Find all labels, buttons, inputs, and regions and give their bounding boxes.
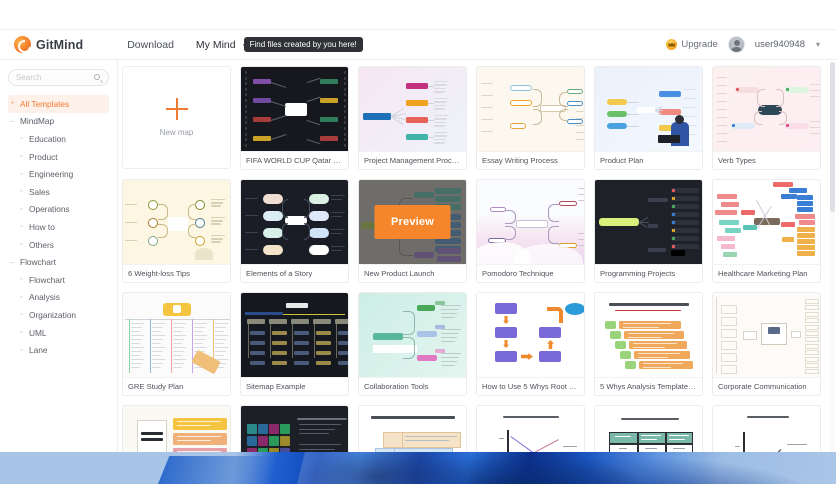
sidebar-item-product[interactable]: ▫Product	[8, 148, 109, 166]
template-thumbnail	[595, 67, 702, 151]
chevron-down-icon[interactable]: ▾	[816, 40, 820, 49]
template-thumbnail-art	[595, 406, 702, 452]
template-card-title: Project Management Process	[359, 151, 466, 169]
nav-item-download[interactable]: Download	[127, 39, 174, 51]
template-thumbnail	[713, 406, 820, 452]
sidebar-item-sales[interactable]: ▫Sales	[8, 183, 109, 201]
template-thumbnail	[713, 67, 820, 151]
header-right: Upgrade user940948 ▾	[666, 36, 824, 53]
template-thumbnail-art	[359, 406, 466, 452]
sidebar-item-flowchart[interactable]: –Flowchart	[8, 253, 109, 271]
template-card-title: Essay Writing Process	[477, 151, 584, 169]
expand-icon: –	[10, 259, 15, 266]
sidebar-item-uml[interactable]: ▫UML	[8, 324, 109, 342]
template-thumbnail	[595, 406, 702, 452]
template-thumbnail-art	[477, 67, 584, 151]
template-thumbnail	[595, 293, 702, 377]
template-card[interactable]: 5 Whys Analysis Template - J & J S...	[594, 292, 703, 396]
template-card[interactable]	[358, 405, 467, 452]
template-thumbnail-art	[359, 293, 466, 377]
sidebar-item-analysis[interactable]: ▫Analysis	[8, 289, 109, 307]
template-thumbnail-art	[595, 180, 702, 264]
template-card-title: How to Use 5 Whys Root Cause A...	[477, 377, 584, 395]
template-thumbnail-art	[123, 180, 230, 264]
bullet-icon: ▫	[19, 311, 24, 318]
template-thumbnail-art	[595, 67, 702, 151]
sidebar-item-flowchart[interactable]: ▫Flowchart	[8, 271, 109, 289]
preview-button[interactable]: Preview	[374, 205, 451, 239]
main-nav: Download My Mind Find files created by y…	[127, 37, 363, 52]
template-card[interactable]: Pomodoro Technique	[476, 179, 585, 283]
new-map-label: New map	[160, 128, 194, 137]
template-thumbnail	[477, 293, 584, 377]
template-thumbnail-art	[123, 406, 230, 452]
template-card[interactable]	[594, 405, 703, 452]
template-card[interactable]	[476, 405, 585, 452]
bullet-icon: ▫	[19, 294, 24, 301]
sidebar-item-label: UML	[29, 328, 47, 338]
sidebar-item-others[interactable]: ▫Others	[8, 236, 109, 254]
template-card[interactable]: How to Use 5 Whys Root Cause A...	[476, 292, 585, 396]
template-card[interactable]	[712, 405, 821, 452]
brand-logo[interactable]: GitMind	[14, 36, 83, 53]
site-header: GitMind Download My Mind Find files crea…	[0, 30, 836, 60]
template-thumbnail-art	[241, 67, 348, 151]
template-card-title: New Product Launch	[359, 264, 466, 282]
template-card-title: Pomodoro Technique	[477, 264, 584, 282]
template-thumbnail-art	[477, 406, 584, 452]
template-card-title: Sitemap Example	[241, 377, 348, 395]
template-card[interactable]: Sitemap Example	[240, 292, 349, 396]
template-thumbnail-art	[241, 293, 348, 377]
template-card-title: Collaboration Tools	[359, 377, 466, 395]
template-card[interactable]: GRE Study Plan	[122, 292, 231, 396]
user-name[interactable]: user940948	[755, 39, 805, 50]
template-thumbnail-art	[123, 293, 230, 377]
sidebar-item-label: How to	[29, 222, 55, 232]
template-card[interactable]: Project Management Process	[358, 66, 467, 170]
sidebar-item-label: Engineering	[29, 169, 73, 179]
template-card[interactable]: Healthcare Marketing Plan	[712, 179, 821, 283]
template-thumbnail	[241, 406, 348, 452]
template-thumbnail	[359, 67, 466, 151]
template-card[interactable]: Essay Writing Process	[476, 66, 585, 170]
template-thumbnail	[241, 180, 348, 264]
template-gallery: New map FIFA WORLD CUP Qatar 2022Project…	[118, 60, 836, 452]
bullet-icon: ▫	[19, 329, 24, 336]
sidebar-item-all-templates[interactable]: +All Templates	[8, 95, 109, 113]
template-thumbnail-art	[595, 293, 702, 377]
sidebar-item-mindmap[interactable]: –MindMap	[8, 113, 109, 131]
bullet-icon: ▫	[19, 171, 24, 178]
template-card-title: 5 Whys Analysis Template - J & J S...	[595, 377, 702, 395]
template-thumbnail-art	[241, 406, 348, 452]
template-grid: New map FIFA WORLD CUP Qatar 2022Project…	[122, 66, 824, 452]
template-thumbnail-art	[477, 293, 584, 377]
sidebar-item-label: Operations	[29, 204, 70, 214]
avatar[interactable]	[728, 36, 745, 53]
template-card[interactable]: Programming Projects	[594, 179, 703, 283]
sidebar-item-organization[interactable]: ▫Organization	[8, 306, 109, 324]
template-thumbnail	[477, 406, 584, 452]
template-card-title: Product Plan	[595, 151, 702, 169]
sidebar-item-education[interactable]: ▫Education	[8, 130, 109, 148]
new-map-button[interactable]: New map	[122, 66, 231, 169]
bullet-icon: ▫	[19, 276, 24, 283]
expand-icon: –	[10, 118, 15, 125]
sidebar-item-label: All Templates	[20, 99, 69, 109]
tooltip-my-mind: Find files created by you here!	[244, 37, 363, 52]
sidebar-item-operations[interactable]: ▫Operations	[8, 201, 109, 219]
template-thumbnail-art	[359, 67, 466, 151]
template-thumbnail-art	[713, 293, 820, 377]
template-card-title: Programming Projects	[595, 264, 702, 282]
template-card-title: Corporate Communication	[713, 377, 820, 395]
template-card-title: Elements of a Story	[241, 264, 348, 282]
template-card[interactable]	[240, 405, 349, 452]
sidebar-item-label: Lane	[29, 345, 47, 355]
gitmind-logo-icon	[14, 36, 31, 53]
search-input[interactable]	[16, 73, 101, 82]
template-card[interactable]: 6 Weight-loss Tips	[122, 179, 231, 283]
sidebar-list: +All Templates–MindMap▫Education▫Product…	[8, 95, 109, 359]
template-thumbnail-art	[477, 180, 584, 264]
plus-icon	[166, 98, 188, 120]
template-thumbnail: Preview	[359, 180, 466, 264]
template-thumbnail-art	[241, 180, 348, 264]
template-card-title: FIFA WORLD CUP Qatar 2022	[241, 151, 348, 169]
template-card-title: GRE Study Plan	[123, 377, 230, 395]
template-thumbnail	[123, 406, 230, 452]
template-thumbnail	[713, 180, 820, 264]
template-card[interactable]: FIFA WORLD CUP Qatar 2022	[240, 66, 349, 170]
template-card-title: 6 Weight-loss Tips	[123, 264, 230, 282]
template-thumbnail	[123, 180, 230, 264]
content-scrollbar[interactable]	[830, 62, 835, 452]
sidebar-item-lane[interactable]: ▫Lane	[8, 341, 109, 359]
bullet-icon: ▫	[19, 206, 24, 213]
template-thumbnail	[477, 67, 584, 151]
template-thumbnail	[713, 293, 820, 377]
bullet-icon: ▫	[19, 347, 24, 354]
browser-chrome-strip	[0, 0, 836, 30]
windows-desktop-wallpaper	[0, 452, 836, 484]
page-body: +All Templates–MindMap▫Education▫Product…	[0, 60, 836, 452]
upgrade-label: Upgrade	[681, 39, 717, 50]
template-thumbnail	[359, 406, 466, 452]
sidebar-item-label: Organization	[29, 310, 76, 320]
bullet-icon: ▫	[19, 153, 24, 160]
brand-name: GitMind	[36, 38, 83, 52]
template-thumbnail	[359, 293, 466, 377]
template-card[interactable]: PreviewNew Product Launch	[358, 179, 467, 283]
template-card-title: Verb Types	[713, 151, 820, 169]
sidebar-item-label: Flowchart	[20, 257, 56, 267]
bullet-icon: ▫	[19, 223, 24, 230]
scrollbar-thumb[interactable]	[830, 62, 835, 212]
sidebar: +All Templates–MindMap▫Education▫Product…	[0, 60, 118, 452]
crown-icon	[666, 39, 677, 50]
sidebar-item-engineering[interactable]: ▫Engineering	[8, 165, 109, 183]
nav-item-my-mind[interactable]: My Mind	[196, 39, 236, 51]
template-thumbnail-art	[713, 67, 820, 151]
bullet-icon: ▫	[19, 135, 24, 142]
browser-page: GitMind Download My Mind Find files crea…	[0, 0, 836, 452]
sidebar-item-label: Flowchart	[29, 275, 65, 285]
template-card[interactable]	[122, 405, 231, 452]
sidebar-item-label: Education	[29, 134, 66, 144]
template-thumbnail	[241, 67, 348, 151]
template-card[interactable]: Verb Types	[712, 66, 821, 170]
bullet-icon: ▫	[19, 241, 24, 248]
search-icon	[94, 74, 102, 82]
template-thumbnail	[477, 180, 584, 264]
template-card[interactable]: Elements of a Story	[240, 179, 349, 283]
sidebar-item-how-to[interactable]: ▫How to	[8, 218, 109, 236]
sidebar-item-label: Sales	[29, 187, 50, 197]
template-thumbnail-art	[713, 406, 820, 452]
upgrade-button[interactable]: Upgrade	[666, 39, 717, 50]
bullet-icon: ▫	[19, 188, 24, 195]
sidebar-item-label: MindMap	[20, 116, 54, 126]
template-card[interactable]: Product Plan	[594, 66, 703, 170]
screen: GitMind Download My Mind Find files crea…	[0, 0, 836, 484]
template-card[interactable]: Collaboration Tools	[358, 292, 467, 396]
template-thumbnail-art	[713, 180, 820, 264]
sidebar-item-label: Product	[29, 152, 58, 162]
sidebar-item-label: Others	[29, 240, 54, 250]
template-card[interactable]: Corporate Communication	[712, 292, 821, 396]
sidebar-item-label: Analysis	[29, 292, 60, 302]
search-box[interactable]	[8, 69, 109, 86]
template-thumbnail	[241, 293, 348, 377]
template-card-title: Healthcare Marketing Plan	[713, 264, 820, 282]
template-thumbnail	[595, 180, 702, 264]
template-thumbnail	[123, 293, 230, 377]
expand-icon: +	[10, 100, 15, 107]
